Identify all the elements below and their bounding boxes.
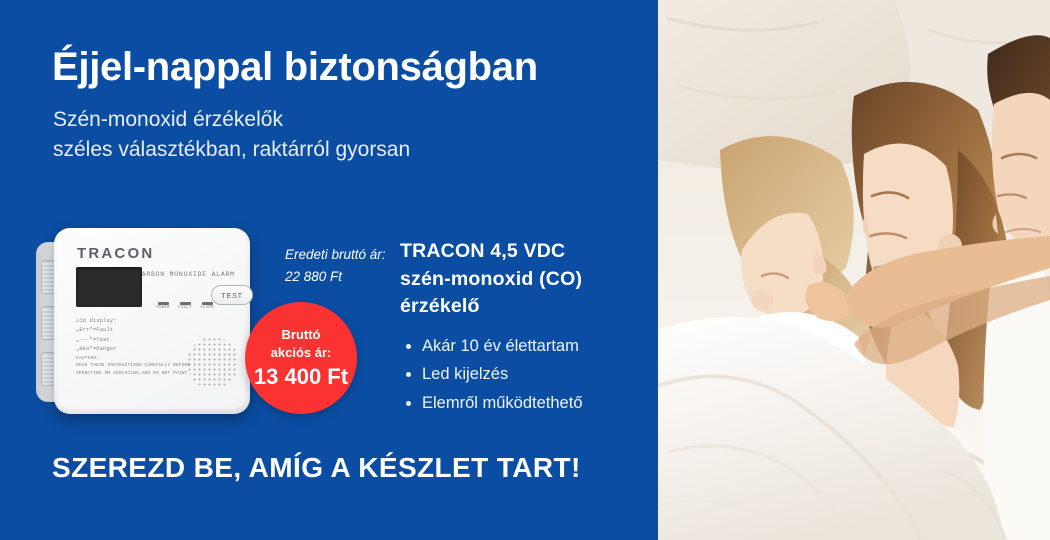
device-lcd-legend: LCD display: „Err"=Fault „---"=Test „Hco… xyxy=(76,317,117,355)
product-feature-list: Akár 10 év élettartam Led kijelzés Elemr… xyxy=(400,332,583,417)
list-item: Led kijelzés xyxy=(400,360,583,388)
original-price: Eredeti bruttó ár: 22 880 Ft xyxy=(285,244,386,287)
device-body: TRACON CARBON MONOXIDE ALARM POWER FAULT xyxy=(54,228,250,414)
product-title-line-1: TRACON 4,5 VDC xyxy=(400,238,582,266)
device-alarm-label: CARBON MONOXIDE ALARM xyxy=(137,271,235,278)
led-bar-icon xyxy=(202,302,213,305)
original-price-label: Eredeti bruttó ár: xyxy=(285,244,386,266)
led-fault: FAULT xyxy=(174,302,196,311)
device-lcd-screen xyxy=(76,267,142,307)
device-caution-text: CAUTION: READ THESE INSTRUCTIONS CAREFUL… xyxy=(76,355,190,377)
led-alarm-label: ALARM xyxy=(196,306,218,310)
badge-price-amount: 13 400 Ft xyxy=(254,364,348,390)
badge-label-line-2: akciós ár: xyxy=(271,344,332,361)
list-item: Elemről működtethető xyxy=(400,389,583,417)
footer-tagline: SZEREZD BE, AMÍG A KÉSZLET TART! xyxy=(52,452,581,484)
device-vent-icon xyxy=(41,260,55,294)
led-fault-label: FAULT xyxy=(174,306,196,310)
original-price-value: 22 880 Ft xyxy=(285,266,386,288)
device-front-face: TRACON CARBON MONOXIDE ALARM POWER FAULT xyxy=(59,233,245,409)
device-led-indicators: POWER FAULT ALARM xyxy=(152,295,220,313)
led-bar-icon xyxy=(180,302,191,305)
led-power-label: POWER xyxy=(152,306,174,310)
led-bar-icon xyxy=(158,302,169,305)
promo-banner: Éjjel-nappal biztonságban Szén-monoxid é… xyxy=(0,0,1050,540)
family-sleeping-photo xyxy=(658,0,1050,540)
product-image-co-detector: TRACON CARBON MONOXIDE ALARM POWER FAULT xyxy=(36,228,266,418)
device-test-button: TEST xyxy=(211,285,253,305)
device-vent-icon xyxy=(41,306,55,340)
subtitle-line-2: széles választékban, raktárról gyorsan xyxy=(53,135,410,165)
discount-price-badge: Bruttó akciós ár: 13 400 Ft xyxy=(245,302,357,414)
device-vent-icon xyxy=(41,352,55,386)
subtitle: Szén-monoxid érzékelők széles választékb… xyxy=(53,105,410,165)
led-power: POWER xyxy=(152,302,174,311)
device-speaker-grille-icon xyxy=(187,337,239,389)
left-content-panel: Éjjel-nappal biztonságban Szén-monoxid é… xyxy=(0,0,658,540)
device-brand-logo: TRACON xyxy=(77,245,154,262)
page-title: Éjjel-nappal biztonságban xyxy=(52,45,538,90)
badge-label-line-1: Bruttó xyxy=(282,326,321,343)
product-title: TRACON 4,5 VDC szén-monoxid (CO) érzékel… xyxy=(400,238,582,321)
product-title-line-2: szén-monoxid (CO) xyxy=(400,266,582,294)
subtitle-line-1: Szén-monoxid érzékelők xyxy=(53,105,410,135)
product-title-line-3: érzékelő xyxy=(400,293,582,321)
list-item: Akár 10 év élettartam xyxy=(400,332,583,360)
